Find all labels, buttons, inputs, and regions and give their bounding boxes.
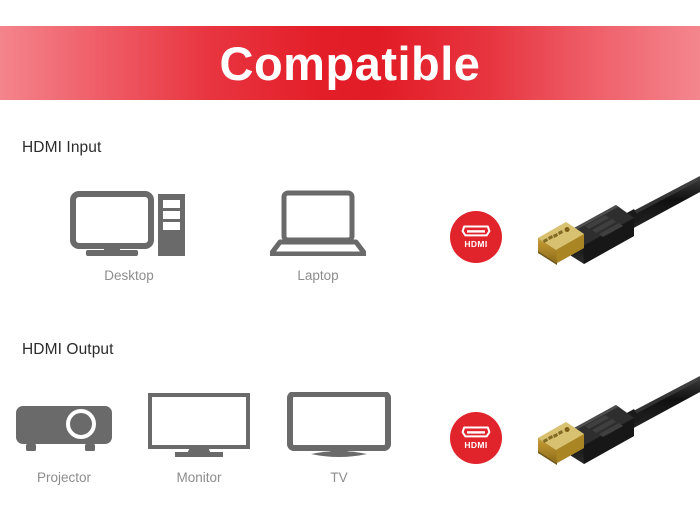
hdmi-connector-icon — [461, 426, 491, 439]
section-heading-hdmi-input: HDMI Input — [22, 139, 101, 157]
device-desktop: Desktop — [68, 190, 190, 283]
hdmi-cable-photo — [510, 170, 700, 290]
hdmi-badge-label: HDMI — [464, 441, 487, 450]
device-tv: TV — [282, 392, 396, 485]
section-heading-hdmi-output: HDMI Output — [22, 341, 114, 359]
hdmi-badge-output: HDMI — [450, 412, 502, 464]
device-caption: Projector — [8, 470, 120, 485]
device-monitor: Monitor — [142, 392, 256, 485]
laptop-icon — [262, 190, 374, 256]
projector-icon — [8, 392, 120, 458]
monitor-icon — [142, 392, 256, 458]
device-caption: Desktop — [68, 268, 190, 283]
television-icon — [282, 392, 396, 458]
hdmi-output-row: Projector Monitor TV HDMI — [0, 380, 700, 500]
hdmi-input-row: Desktop Laptop HDMI — [0, 178, 700, 298]
hdmi-badge-input: HDMI — [450, 211, 502, 263]
device-laptop: Laptop — [262, 190, 374, 283]
hdmi-badge-label: HDMI — [464, 240, 487, 249]
device-caption: Monitor — [142, 470, 256, 485]
hdmi-cable-photo — [510, 370, 700, 490]
device-projector: Projector — [8, 392, 120, 485]
compatibility-infographic: { "header": { "title": "Compatible", "ba… — [0, 0, 700, 524]
hdmi-connector-icon — [461, 225, 491, 238]
header-banner: Compatible — [0, 26, 700, 100]
device-caption: Laptop — [262, 268, 374, 283]
page-title: Compatible — [220, 40, 481, 87]
desktop-computer-icon — [68, 190, 190, 256]
device-caption: TV — [282, 470, 396, 485]
